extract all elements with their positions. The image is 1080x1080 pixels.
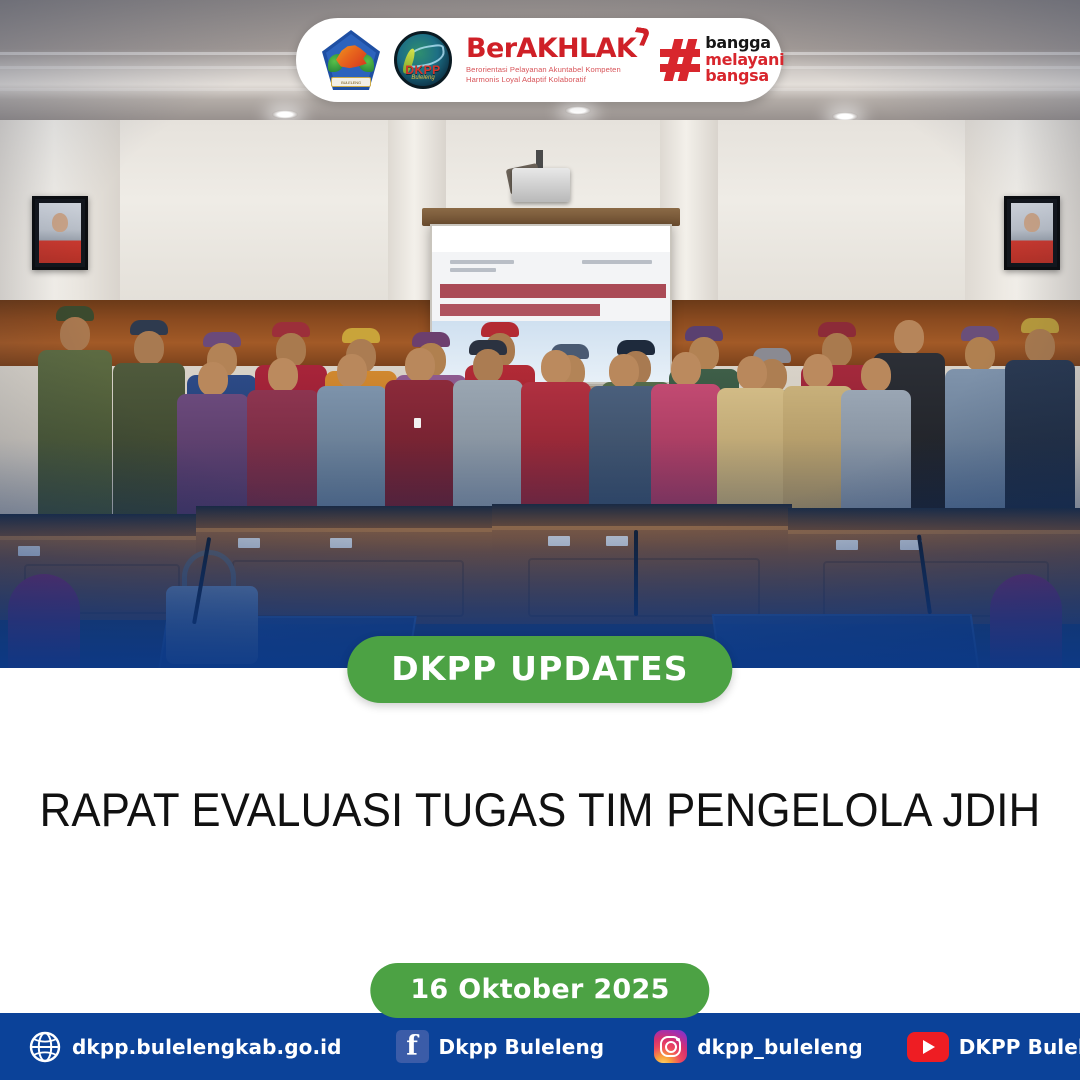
buleleng-crest-icon: BULELENG bbox=[322, 30, 380, 90]
photo-blue-overlay bbox=[0, 438, 1080, 668]
bangga-line3: bangsa bbox=[705, 68, 784, 85]
footer-youtube[interactable]: DKPP Buleleng bbox=[907, 1032, 1080, 1062]
dkpp-buleleng-logo-icon: DKPP Buleleng bbox=[394, 31, 452, 89]
dkpp-updates-badge: DKPP UPDATES bbox=[347, 636, 732, 703]
berakhlak-tagline-line2: Harmonis Loyal Adaptif Kolaboratif bbox=[466, 75, 636, 85]
youtube-icon bbox=[907, 1032, 949, 1062]
footer-facebook-label: Dkpp Buleleng bbox=[439, 1035, 605, 1059]
berakhlak-tagline-line1: Berorientasi Pelayanan Akuntabel Kompete… bbox=[466, 65, 636, 75]
berakhlak-swoosh-icon bbox=[630, 27, 651, 46]
footer-website-label: dkpp.bulelengkab.go.id bbox=[72, 1035, 342, 1059]
social-footer: dkpp.bulelengkab.go.id Dkpp Buleleng dkp… bbox=[0, 1013, 1080, 1080]
crest-ribbon-label: BULELENG bbox=[331, 77, 371, 87]
hashtag-icon bbox=[660, 39, 700, 81]
dkpp-logo-subtitle: Buleleng bbox=[397, 75, 449, 81]
berakhlak-logo: BerAKHLAK Berorientasi Pelayanan Akuntab… bbox=[466, 35, 646, 85]
globe-icon bbox=[28, 1030, 62, 1064]
headline-title: RAPAT EVALUASI TUGAS TIM PENGELOLA JDIH bbox=[38, 782, 1042, 837]
event-date-badge: 16 Oktober 2025 bbox=[370, 963, 709, 1018]
berakhlak-title: BerAKHLAK bbox=[466, 35, 636, 62]
logo-bar: BULELENG DKPP Buleleng BerAKHLAK Berorie… bbox=[296, 18, 782, 102]
facebook-icon bbox=[396, 1030, 429, 1063]
footer-instagram[interactable]: dkpp_buleleng bbox=[654, 1030, 863, 1063]
footer-website[interactable]: dkpp.bulelengkab.go.id bbox=[28, 1030, 342, 1064]
footer-youtube-label: DKPP Buleleng bbox=[959, 1035, 1080, 1059]
footer-instagram-label: dkpp_buleleng bbox=[697, 1035, 863, 1059]
bangga-melayani-bangsa-logo: bangga melayani bangsa bbox=[660, 35, 784, 85]
instagram-icon bbox=[654, 1030, 687, 1063]
footer-facebook[interactable]: Dkpp Buleleng bbox=[396, 1030, 605, 1063]
